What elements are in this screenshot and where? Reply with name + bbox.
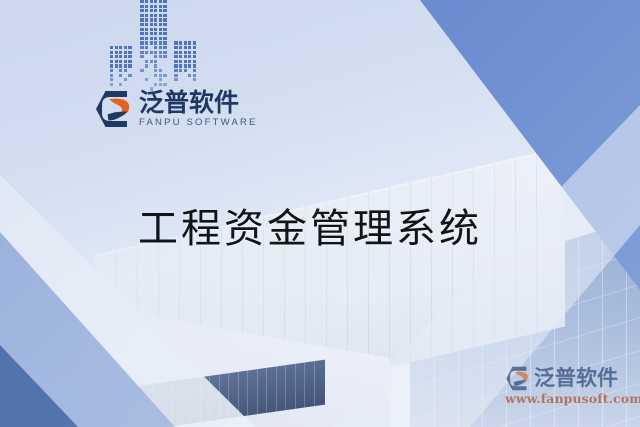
product-banner: 泛普软件 FANPU SOFTWARE 工程资金管理系统 泛普软件 www.fa… <box>0 0 640 427</box>
watermark: 泛普软件 www.fanpusoft.com <box>505 366 637 416</box>
watermark-brand-name: 泛普软件 <box>534 367 618 390</box>
watermark-logo-row: 泛普软件 <box>505 366 637 391</box>
brand-name-en: FANPU SOFTWARE <box>139 117 258 129</box>
brand-logo: 泛普软件 FANPU SOFTWARE <box>94 86 244 132</box>
fanpu-watermark-logo-icon <box>505 366 531 391</box>
brand-name-cn: 泛普软件 <box>139 89 258 116</box>
pixel-skyline-icon <box>110 0 228 92</box>
brand-logo-text: 泛普软件 FANPU SOFTWARE <box>139 89 258 129</box>
fanpu-hexagon-swoosh-logo-icon <box>94 90 134 128</box>
banner-title: 工程资金管理系统 <box>138 196 482 254</box>
watermark-url: www.fanpusoft.com <box>505 392 637 406</box>
